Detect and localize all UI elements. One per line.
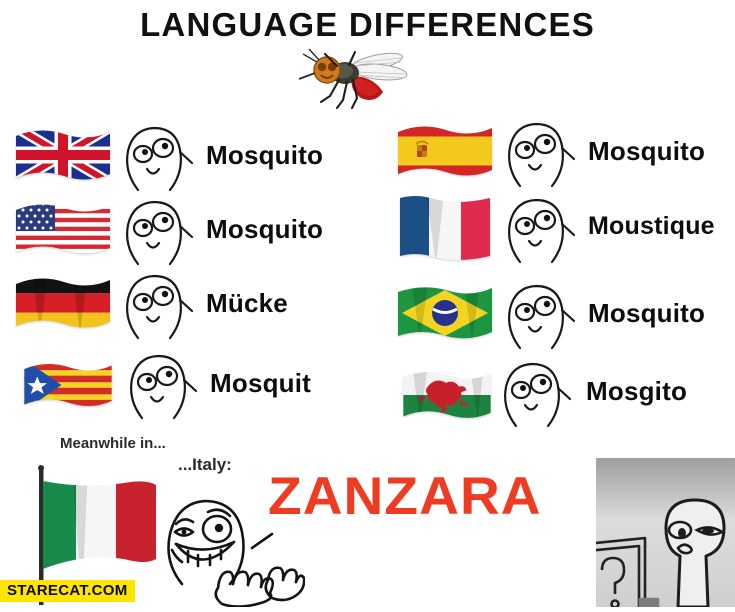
meanwhile-label: Meanwhile in...: [60, 435, 166, 452]
derp-rage-face: [500, 118, 578, 190]
language-row: Mosgito: [396, 358, 735, 430]
language-row: Mücke: [14, 270, 364, 342]
derp-rage-face: [118, 270, 196, 342]
spain-flag: [396, 122, 496, 184]
united-kingdom-flag: [14, 126, 114, 188]
wales-flag: [400, 368, 494, 422]
language-row: Mosquito: [14, 196, 364, 268]
germany-flag: [14, 274, 114, 336]
watermark: STARECAT.COM: [0, 580, 135, 602]
derp-rage-face: [500, 280, 578, 352]
language-row: Mosquit: [14, 350, 364, 422]
united-states-flag: [14, 200, 114, 262]
meme-canvas: LANGUAGE DIFFERENCES: [0, 0, 735, 607]
derp-rage-face: [496, 358, 574, 430]
language-word: Mosquito: [588, 298, 705, 329]
derp-rage-face: [118, 122, 196, 194]
france-flag: [396, 194, 496, 266]
page-title: LANGUAGE DIFFERENCES: [0, 6, 735, 44]
language-row: Mosquito: [396, 118, 735, 190]
language-word: Mosquito: [206, 140, 323, 171]
derp-rage-face: [118, 196, 196, 268]
unimpressed-rage-face-panel: [596, 458, 735, 607]
language-row: Mosquito: [14, 122, 364, 194]
language-word: Mosquit: [210, 368, 311, 399]
punchline-word: ZANZARA: [268, 466, 542, 527]
derp-rage-face: [500, 194, 578, 266]
crazy-excited-rage-face: [160, 492, 305, 607]
mosquito-icon: [297, 46, 417, 112]
language-row: Moustique: [396, 194, 735, 266]
language-word: Mosquito: [206, 214, 323, 245]
language-word: Mücke: [206, 288, 288, 319]
language-row: Mosquito: [396, 280, 735, 352]
language-word: Moustique: [588, 212, 715, 241]
derp-rage-face: [122, 350, 200, 422]
language-word: Mosgito: [586, 376, 687, 407]
catalonia-estelada-flag: [22, 358, 114, 412]
language-word: Mosquito: [588, 136, 705, 167]
brazil-flag: [396, 284, 496, 346]
italy-label: ...Italy:: [178, 455, 232, 475]
